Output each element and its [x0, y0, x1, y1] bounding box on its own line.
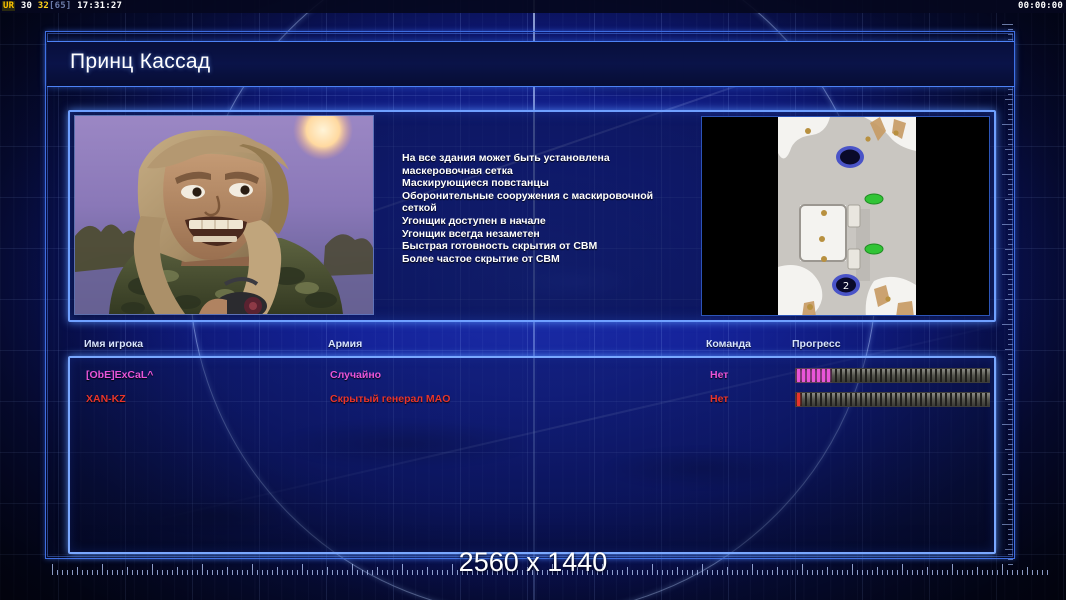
ruler-tick — [1008, 209, 1013, 210]
ruler-tick — [1008, 419, 1013, 420]
player-army[interactable]: Скрытый генерал MAO — [330, 393, 450, 405]
svg-text:2: 2 — [843, 281, 849, 292]
ruler-tick — [1008, 339, 1013, 340]
ruler-tick — [1008, 204, 1013, 205]
ruler-tick — [1005, 349, 1013, 350]
progress-bar — [795, 392, 990, 407]
player-army[interactable]: Случайно — [330, 369, 381, 381]
table-row[interactable]: XAN-KZСкрытый генерал MAOНет — [70, 390, 994, 414]
ability-line: Угонщик всегда незаметен — [402, 228, 702, 241]
ruler-tick — [1008, 214, 1013, 215]
ruler-tick — [1008, 384, 1013, 385]
ruler-tick — [1005, 149, 1013, 150]
ruler-tick — [1008, 134, 1013, 135]
resolution-overlay: 2560 x 1440 — [0, 547, 1066, 578]
ruler-tick — [1008, 269, 1013, 270]
ruler-tick — [1008, 169, 1013, 170]
ruler-tick — [1005, 399, 1013, 400]
ruler-tick — [1008, 34, 1013, 35]
ruler-tick — [1005, 99, 1013, 100]
player-list-panel: [ObE]ExCaL^СлучайноНетXAN-KZСкрытый гене… — [68, 356, 996, 554]
ruler-tick — [1002, 124, 1013, 125]
ruler-tick — [1008, 489, 1013, 490]
ruler-tick — [1005, 249, 1013, 250]
ruler-tick — [1008, 494, 1013, 495]
general-info-panel: На все здания может быть установлена мас… — [68, 110, 996, 322]
column-header-progress: Прогресс — [792, 338, 841, 350]
player-name: XAN-KZ — [86, 393, 126, 405]
ruler-tick — [1008, 319, 1013, 320]
ruler-tick — [1008, 179, 1013, 180]
ruler-tick — [1008, 159, 1013, 160]
ruler-tick — [1008, 479, 1013, 480]
ruler-tick — [1008, 114, 1013, 115]
ruler-tick — [1008, 154, 1013, 155]
page-title: Принц Кассад — [70, 50, 210, 74]
ruler-tick — [1008, 469, 1013, 470]
ruler-tick — [1008, 144, 1013, 145]
ruler-tick — [1008, 234, 1013, 235]
ruler-tick — [1008, 364, 1013, 365]
ruler-tick — [1008, 284, 1013, 285]
fps-bracket: [65] — [49, 1, 71, 11]
ruler-tick — [1008, 464, 1013, 465]
ability-line: На все здания может быть установлена — [402, 152, 702, 165]
player-team[interactable]: Нет — [710, 369, 728, 381]
player-name: [ObE]ExCaL^ — [86, 369, 153, 381]
ruler-tick — [1008, 229, 1013, 230]
ruler-tick — [1008, 539, 1013, 540]
ruler-tick — [1008, 369, 1013, 370]
general-ability-list: На все здания может быть установлена мас… — [402, 152, 702, 265]
header-panel: Принц Кассад — [47, 41, 1014, 87]
performance-overlay: UR 30 32[65] 17:31:27 — [2, 0, 122, 13]
ruler-tick — [1008, 459, 1013, 460]
game-lobby-screen: UR 30 32[65] 17:31:27 00:00:00 Принц Кас… — [0, 0, 1066, 600]
ruler-tick — [1008, 264, 1013, 265]
match-timer: 00:00:00 — [1018, 0, 1063, 13]
ruler-tick — [1008, 239, 1013, 240]
ruler-tick — [1008, 139, 1013, 140]
ruler-tick — [1008, 354, 1013, 355]
ruler-tick — [1008, 254, 1013, 255]
ruler-tick — [1008, 344, 1013, 345]
ruler-tick — [1002, 274, 1013, 275]
player-team[interactable]: Нет — [710, 393, 728, 405]
ruler-tick — [1008, 409, 1013, 410]
ruler-tick — [1008, 219, 1013, 220]
system-clock: 17:31:27 — [77, 1, 122, 11]
ruler-tick — [1008, 484, 1013, 485]
ruler-tick — [1002, 324, 1013, 325]
ruler-tick — [1005, 299, 1013, 300]
ruler-tick — [1008, 29, 1013, 30]
ruler-tick — [1008, 164, 1013, 165]
column-header-army: Армия — [328, 338, 362, 350]
ruler-tick — [1002, 374, 1013, 375]
ruler-tick — [1005, 449, 1013, 450]
ruler-tick — [1008, 404, 1013, 405]
ruler-tick — [1008, 519, 1013, 520]
ruler-tick — [1005, 499, 1013, 500]
ruler-tick — [1005, 199, 1013, 200]
ruler-tick — [1008, 414, 1013, 415]
top-status-bar: UR 30 32[65] 17:31:27 00:00:00 — [0, 0, 1066, 13]
ruler-tick — [1008, 394, 1013, 395]
ruler-tick — [1002, 224, 1013, 225]
ability-line: Быстрая готовность скрытия от СВМ — [402, 240, 702, 253]
minimap-container: 2 — [701, 116, 990, 316]
ruler-tick — [1008, 194, 1013, 195]
ruler-tick — [1008, 294, 1013, 295]
ruler-tick — [1008, 429, 1013, 430]
ruler-tick — [1008, 289, 1013, 290]
player-table-header: Имя игрока Армия Команда Прогресс — [68, 338, 996, 355]
ruler-tick — [1008, 454, 1013, 455]
ruler-tick — [1008, 89, 1013, 90]
ruler-tick — [1008, 104, 1013, 105]
ur-label: UR — [2, 1, 15, 11]
ruler-tick — [1008, 329, 1013, 330]
minimap-image: 2 — [778, 117, 916, 316]
ability-line: Угонщик доступен в начале — [402, 215, 702, 228]
ruler-tick — [1008, 434, 1013, 435]
ruler-tick — [1008, 129, 1013, 130]
ruler-tick — [1008, 334, 1013, 335]
table-row[interactable]: [ObE]ExCaL^СлучайноНет — [70, 366, 994, 390]
ruler-tick — [1008, 504, 1013, 505]
general-portrait — [75, 116, 373, 314]
fps-alt-value: 32 — [38, 1, 49, 11]
ability-line: Более частое скрытие от СВМ — [402, 253, 702, 266]
ruler-tick — [1008, 379, 1013, 380]
ruler-tick — [1002, 24, 1013, 25]
ruler-tick — [1008, 279, 1013, 280]
minimap-start-marker-2: 2 — [832, 274, 860, 296]
ruler-tick — [1008, 534, 1013, 535]
ruler-tick — [1008, 189, 1013, 190]
ruler-tick — [1008, 184, 1013, 185]
ruler-tick — [1008, 109, 1013, 110]
ruler-tick — [1002, 474, 1013, 475]
ruler-tick — [1008, 444, 1013, 445]
ability-line: сеткой — [402, 202, 702, 215]
ruler-tick — [1008, 314, 1013, 315]
ruler-tick — [1008, 119, 1013, 120]
ruler-tick — [1008, 309, 1013, 310]
ruler-tick — [1008, 39, 1013, 40]
fps-value: 30 — [21, 1, 32, 11]
ruler-tick — [1008, 304, 1013, 305]
general-portrait-image — [75, 116, 373, 314]
column-header-player-name: Имя игрока — [84, 338, 143, 350]
ruler-tick — [1008, 439, 1013, 440]
ruler-tick — [1008, 359, 1013, 360]
ruler-tick — [1008, 259, 1013, 260]
progress-bar — [795, 368, 990, 383]
ruler-tick — [1008, 509, 1013, 510]
ruler-tick — [1008, 244, 1013, 245]
minimap-start-marker-1 — [836, 146, 864, 168]
ability-line: маскеровочная сетка — [402, 165, 702, 178]
ruler-tick — [1008, 514, 1013, 515]
ruler-vertical-right — [1000, 24, 1013, 569]
ruler-tick — [1002, 524, 1013, 525]
ruler-tick — [1002, 424, 1013, 425]
ruler-tick — [1008, 529, 1013, 530]
ruler-tick — [1002, 174, 1013, 175]
ability-line: Оборонительные сооружения с маскировочно… — [402, 190, 702, 203]
ruler-tick — [1008, 544, 1013, 545]
column-header-team: Команда — [706, 338, 751, 350]
minimap-terrain: 2 — [778, 117, 916, 316]
ruler-tick — [1008, 94, 1013, 95]
ruler-tick — [1008, 389, 1013, 390]
ability-line: Маскирующиеся повстанцы — [402, 177, 702, 190]
